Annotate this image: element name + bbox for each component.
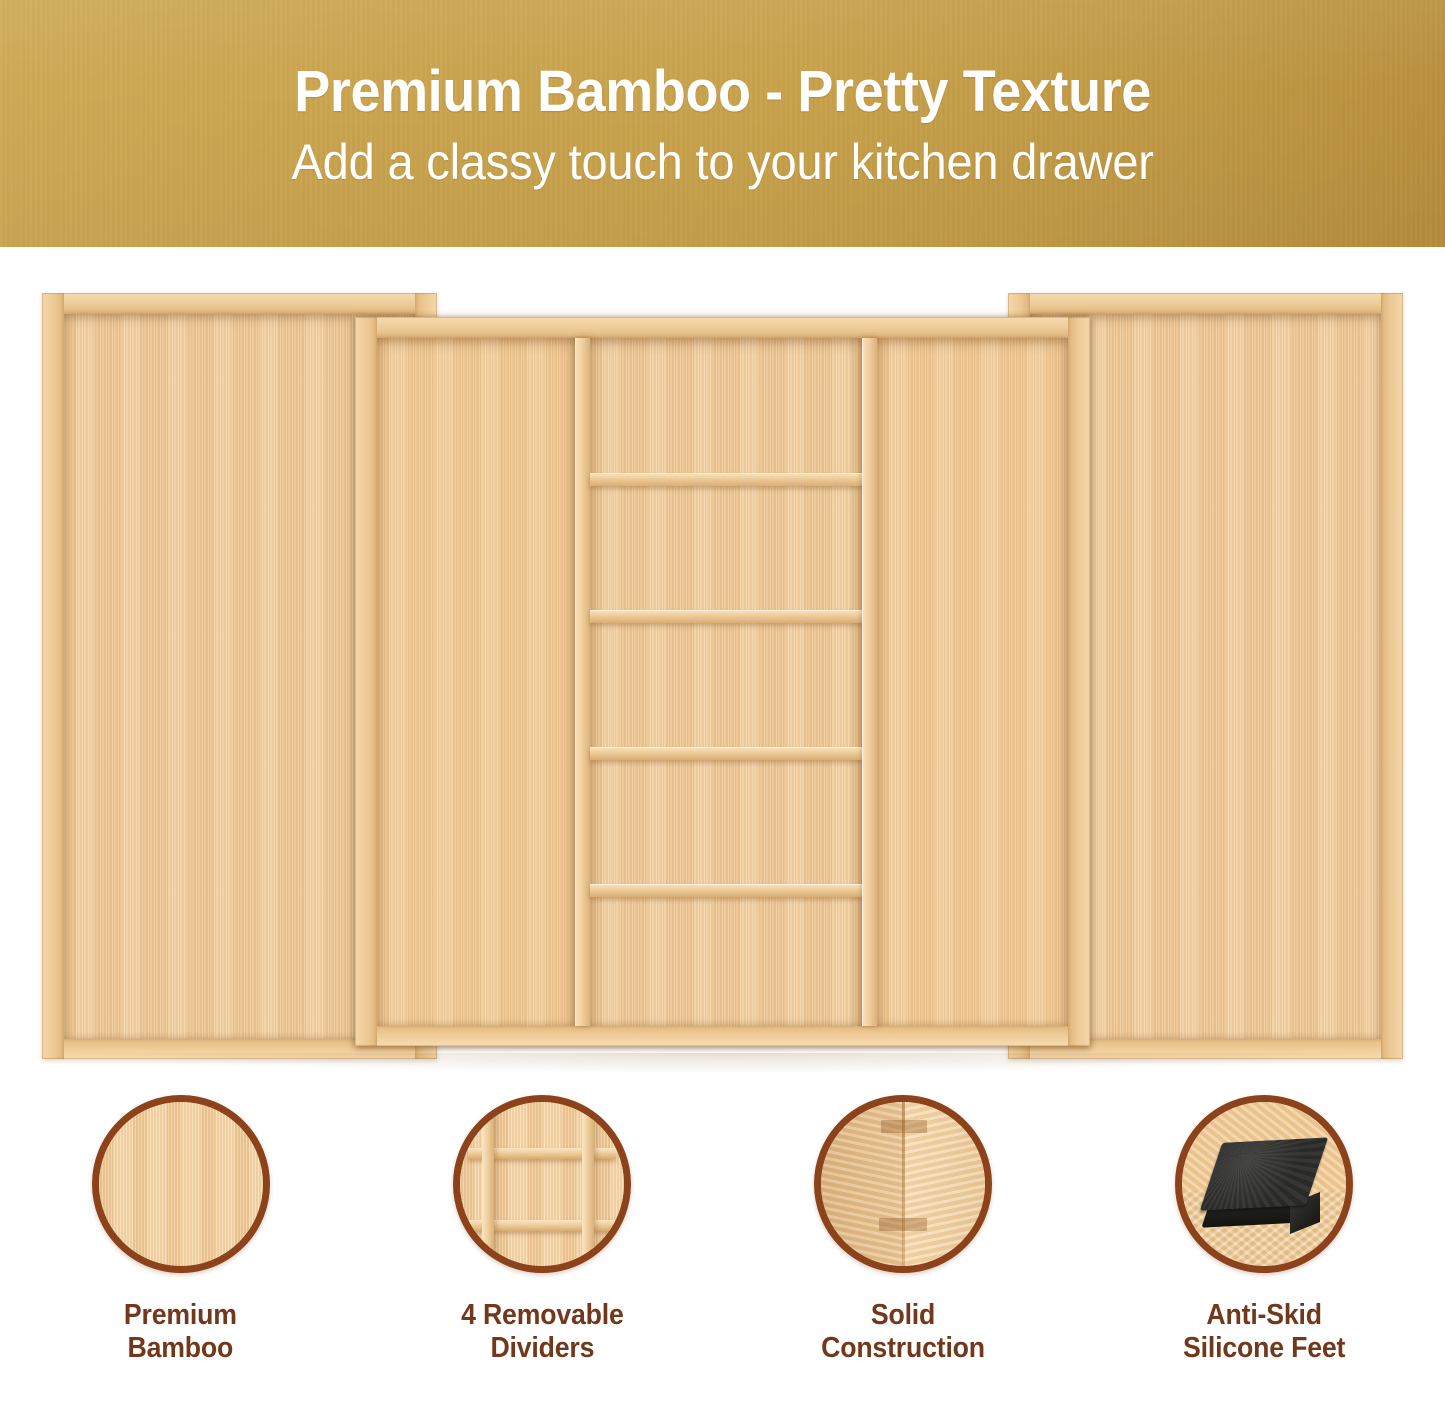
- feature-item-anti-skid-feet: Anti-Skid Silicone Feet: [1084, 1095, 1445, 1409]
- divider-wall-right-icon: [582, 1102, 594, 1266]
- page-subtitle: Add a classy touch to your kitchen drawe…: [291, 136, 1153, 189]
- header-text-block: Premium Bamboo - Pretty Texture Add a cl…: [0, 0, 1445, 247]
- feature-label-solid-construction: Solid Construction: [821, 1299, 985, 1365]
- feature-item-premium-bamboo: Premium Bamboo: [0, 1095, 361, 1409]
- header-banner: Premium Bamboo - Pretty Texture Add a cl…: [0, 0, 1445, 247]
- feature-label-anti-skid-feet: Anti-Skid Silicone Feet: [1183, 1299, 1345, 1365]
- feature-label-premium-bamboo: Premium Bamboo: [124, 1299, 237, 1365]
- feature-label-removable-dividers: 4 Removable Dividers: [461, 1299, 624, 1365]
- inner-tray: [355, 317, 1090, 1046]
- divider-wall-left-icon: [482, 1102, 494, 1266]
- silicone-foot-icon: [1182, 1102, 1346, 1266]
- corner-joint-icon: [821, 1102, 985, 1266]
- anti-skid-feet-circle: [1175, 1095, 1353, 1273]
- feature-item-solid-construction: Solid Construction: [723, 1095, 1084, 1409]
- divider-compartments-icon: [460, 1102, 624, 1266]
- product-marketing-image: Premium Bamboo - Pretty Texture Add a cl…: [0, 0, 1445, 1409]
- bamboo-plank-icon: [99, 1102, 263, 1266]
- removable-dividers-circle: [453, 1095, 631, 1273]
- corner-joint-seam: [902, 1102, 905, 1266]
- feature-item-removable-dividers: 4 Removable Dividers: [361, 1095, 722, 1409]
- solid-construction-circle: [814, 1095, 992, 1273]
- feature-list: Premium Bamboo 4 Removable Dividers: [0, 1095, 1445, 1409]
- product-photo: [0, 247, 1445, 1095]
- premium-bamboo-circle: [92, 1095, 270, 1273]
- inner-tray-frame: [355, 317, 1090, 1046]
- page-title: Premium Bamboo - Pretty Texture: [294, 62, 1151, 122]
